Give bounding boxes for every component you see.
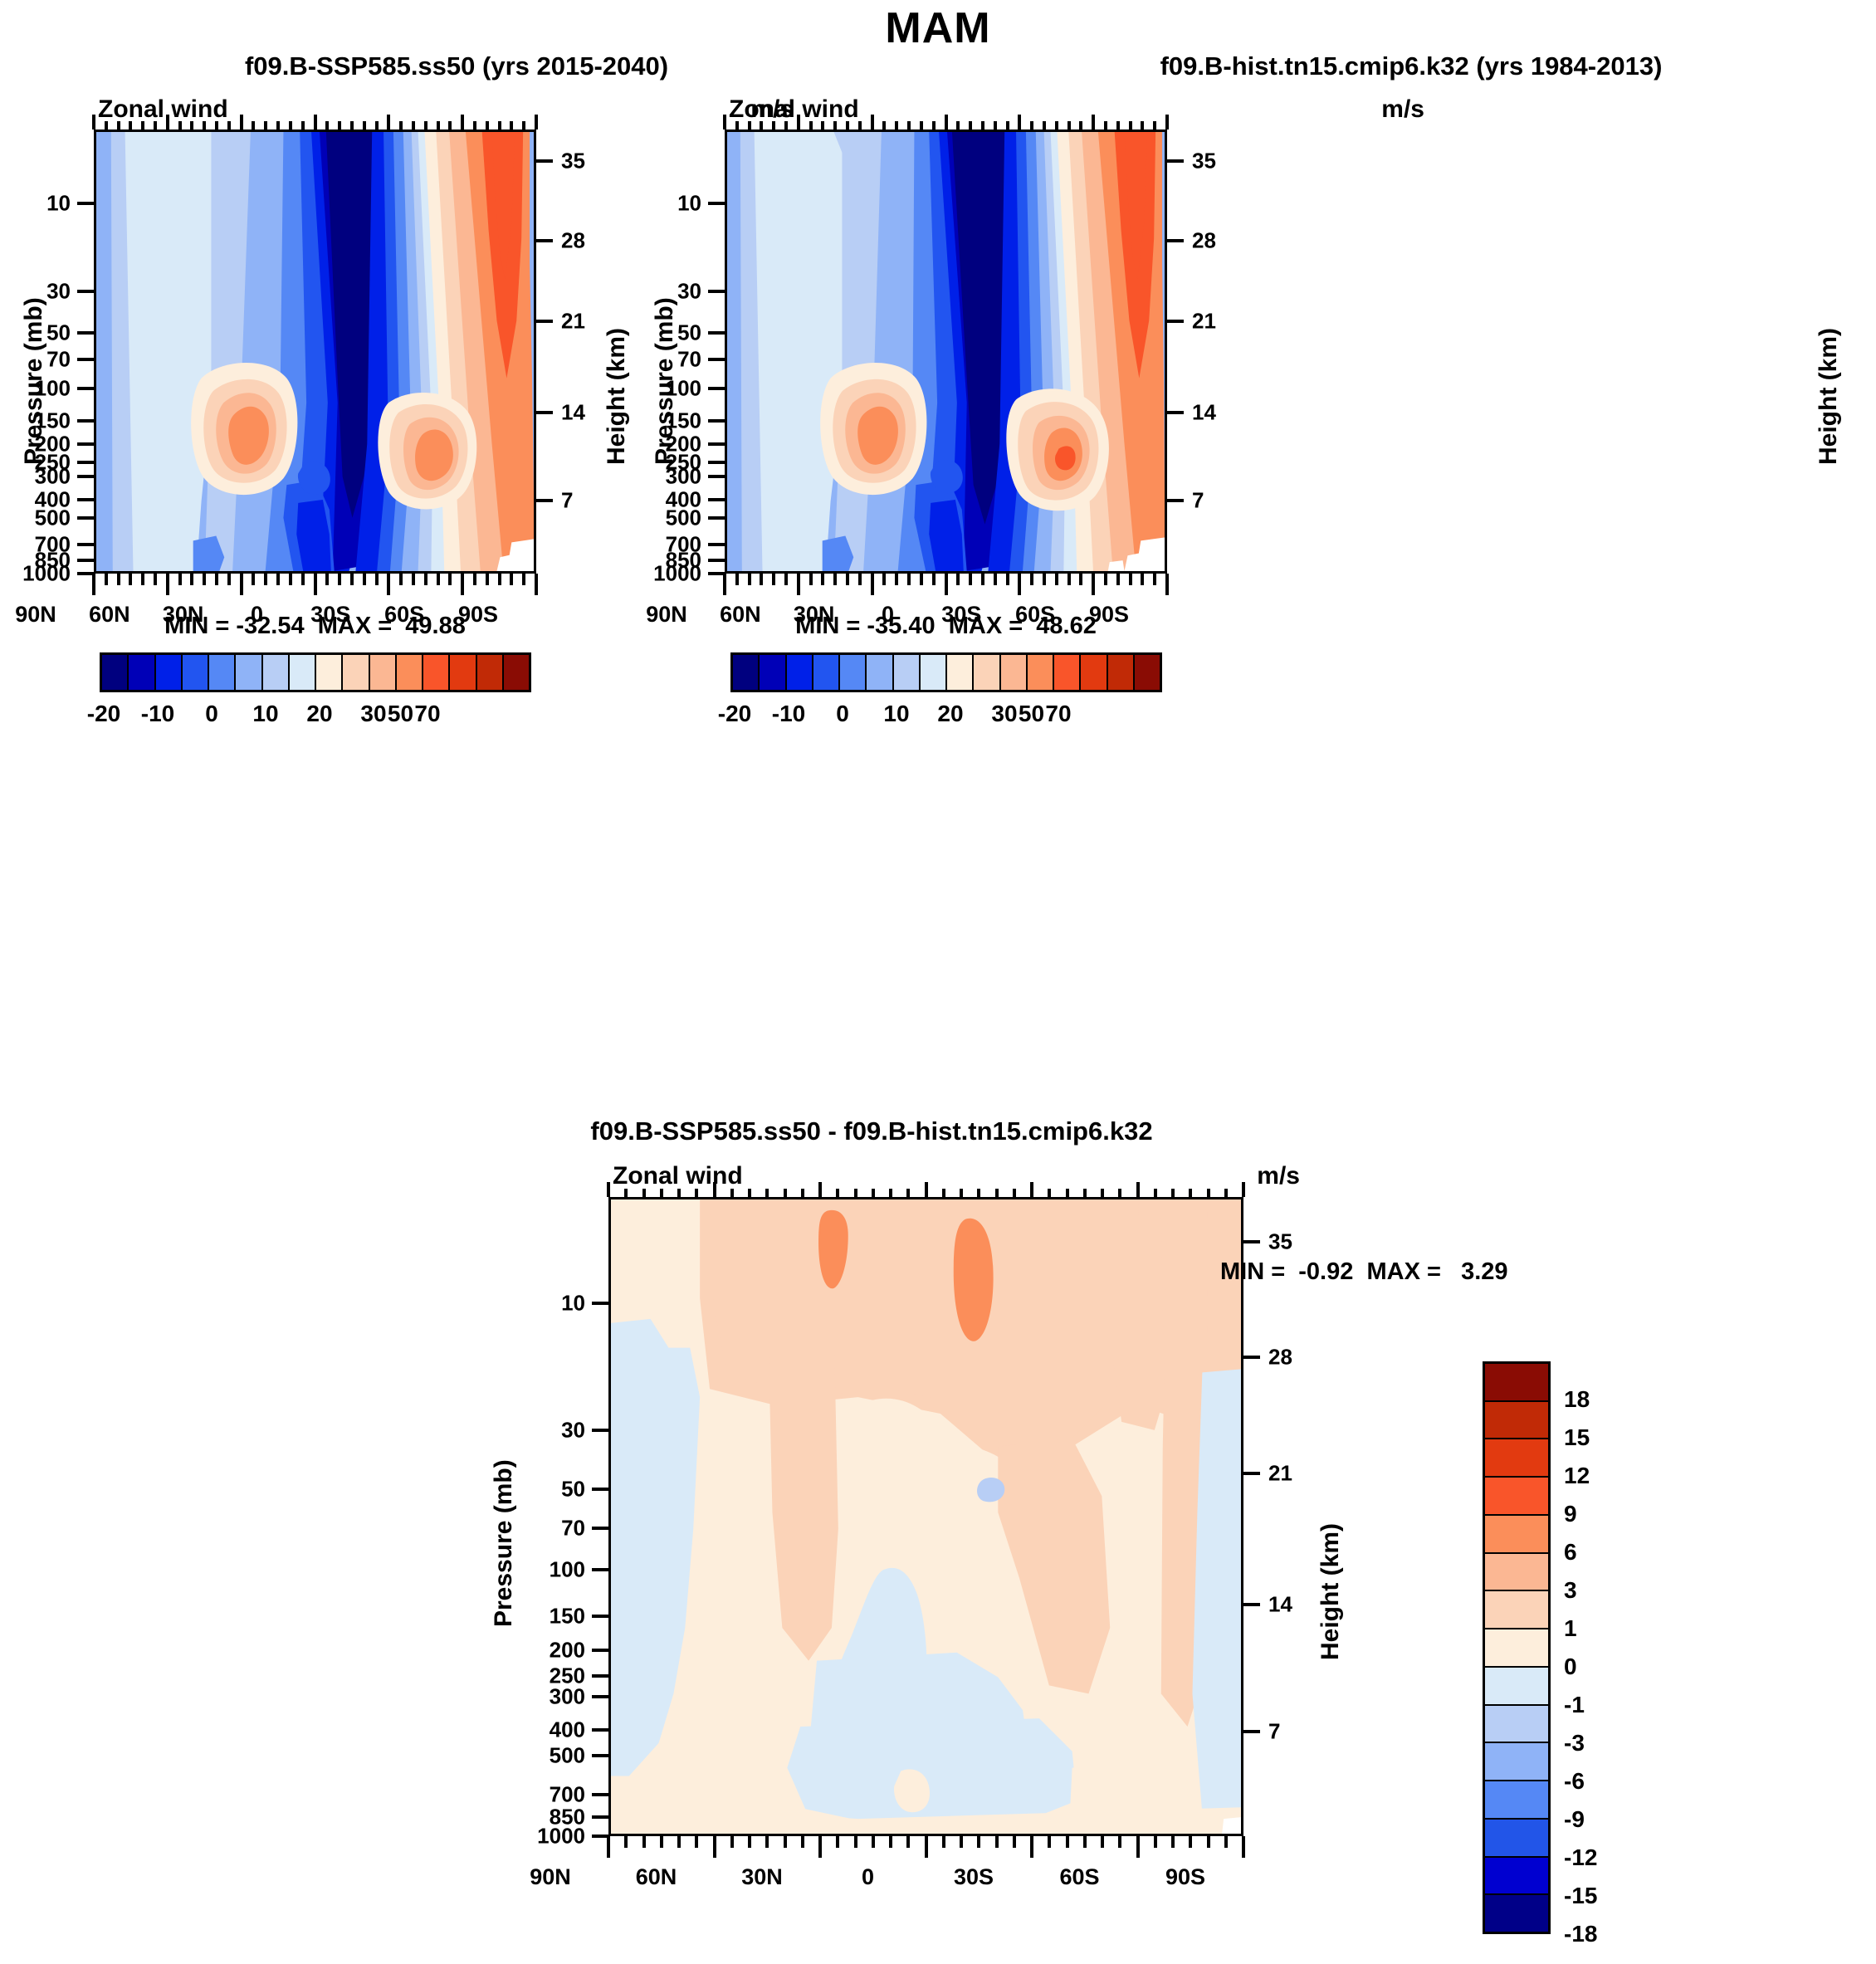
xtick-mark-bottom — [375, 574, 379, 585]
ytick-mark — [708, 543, 725, 546]
plot-diff[interactable] — [608, 1197, 1243, 1836]
colorbar-swatch[interactable] — [1485, 1402, 1548, 1440]
colorbar-swatch[interactable] — [504, 655, 529, 690]
xtick-mark-top — [1101, 1189, 1104, 1197]
xtick-mark-top — [387, 115, 390, 129]
xtick-mark-bottom — [1171, 1836, 1175, 1848]
colorbar-swatch[interactable] — [760, 655, 786, 690]
ytick-mark — [592, 1429, 608, 1432]
xtick-mark-bottom — [695, 1836, 698, 1848]
ytick-mark — [592, 1568, 608, 1571]
xtick-mark-bottom — [387, 574, 390, 595]
ytick-mark-height — [536, 411, 553, 414]
colorbar-swatch[interactable] — [787, 655, 813, 690]
colorbar-tick-label: -1 — [1564, 1692, 1585, 1718]
ytick-label-pressure: 300 — [0, 464, 71, 490]
ytick-mark — [77, 387, 94, 390]
xtick-mark-bottom — [889, 1836, 892, 1848]
xtick-mark-top — [240, 115, 243, 129]
xtick-mark-bottom — [836, 1836, 839, 1848]
xtick-mark-top — [801, 1189, 804, 1197]
ytick-label-height: 28 — [1192, 228, 1250, 254]
xtick-mark-top — [895, 121, 898, 129]
xtick-mark-bottom — [994, 574, 997, 585]
xtick-label-latitude: 60N — [598, 1864, 715, 1890]
xtick-mark-top — [784, 121, 788, 129]
xtick-mark-top — [1048, 1189, 1051, 1197]
plot-diff-contours — [611, 1199, 1241, 1834]
xtick-mark-bottom — [818, 1836, 822, 1858]
xtick-mark-bottom — [264, 574, 267, 585]
colorbar-tick-label: -18 — [1564, 1921, 1597, 1947]
xtick-mark-top — [695, 1189, 698, 1197]
xtick-mark-bottom — [166, 574, 169, 595]
colorbar-tick-label: 70 — [1009, 701, 1108, 727]
ytick-mark — [592, 1835, 608, 1838]
colorbar-swatch[interactable] — [370, 655, 397, 690]
xtick-mark-bottom — [907, 574, 911, 585]
xtick-mark-bottom — [314, 574, 317, 595]
xtick-mark-top — [642, 1189, 646, 1197]
xtick-mark-top — [92, 115, 95, 129]
xtick-mark-bottom — [437, 574, 440, 585]
xtick-mark-top — [1153, 121, 1156, 129]
xtick-mark-bottom — [92, 574, 95, 595]
xtick-mark-top — [809, 121, 813, 129]
ytick-mark — [708, 559, 725, 562]
ytick-label-height: 14 — [1192, 399, 1250, 425]
xtick-mark-bottom — [932, 574, 936, 585]
xtick-mark-top — [748, 1189, 751, 1197]
xtick-mark-bottom — [1154, 1836, 1157, 1848]
colorbar-swatch[interactable] — [1485, 1591, 1548, 1629]
xtick-mark-bottom — [772, 574, 775, 585]
xtick-mark-top — [190, 121, 193, 129]
colorbar-swatch[interactable] — [290, 655, 316, 690]
xtick-mark-bottom — [325, 574, 329, 585]
ytick-mark — [77, 516, 94, 520]
xtick-mark-top — [1013, 1189, 1016, 1197]
ytick-label-height: 28 — [1268, 1345, 1326, 1370]
colorbar-swatch[interactable] — [156, 655, 183, 690]
colorbar-swatch[interactable] — [974, 655, 1000, 690]
ytick-mark — [77, 442, 94, 446]
xtick-mark-bottom — [920, 574, 923, 585]
xtick-mark-bottom — [1116, 574, 1120, 585]
xtick-mark-top — [871, 115, 874, 129]
xtick-mark-top — [264, 121, 267, 129]
xtick-mark-bottom — [956, 574, 960, 585]
xtick-mark-bottom — [925, 1836, 928, 1858]
xtick-mark-top — [1030, 121, 1033, 129]
ytick-mark — [708, 358, 725, 361]
colorbar-swatch[interactable] — [343, 655, 369, 690]
xtick-label-latitude: 60S — [1022, 1864, 1138, 1890]
main-title: MAM — [0, 3, 1876, 53]
xtick-mark-bottom — [748, 574, 751, 585]
xtick-mark-bottom — [1006, 574, 1009, 585]
xtick-mark-bottom — [1189, 1836, 1192, 1848]
ytick-label-pressure: 500 — [501, 1743, 585, 1769]
colorbar-swatch[interactable] — [316, 655, 343, 690]
xtick-mark-bottom — [882, 574, 886, 585]
xtick-mark-bottom — [301, 574, 305, 585]
xtick-mark-top — [363, 121, 366, 129]
xtick-mark-bottom — [809, 574, 813, 585]
xtick-mark-bottom — [713, 1836, 716, 1858]
xtick-mark-bottom — [735, 574, 739, 585]
xtick-mark-bottom — [1055, 574, 1058, 585]
colorbar-swatch[interactable] — [921, 655, 947, 690]
colorbar-swatch[interactable] — [263, 655, 290, 690]
xtick-mark-bottom — [1101, 1836, 1104, 1848]
xtick-mark-bottom — [461, 574, 464, 595]
ytick-label-height: 35 — [1192, 148, 1250, 173]
xtick-mark-bottom — [660, 1836, 663, 1848]
colorbar-swatch[interactable] — [209, 655, 236, 690]
xtick-mark-top — [833, 121, 837, 129]
xtick-mark-top — [1189, 1189, 1192, 1197]
ytick-mark — [708, 475, 725, 478]
colorbar-swatch[interactable] — [947, 655, 974, 690]
ytick-label-pressure: 500 — [617, 505, 701, 530]
colorbar-swatch[interactable] — [1001, 655, 1028, 690]
ytick-label-pressure: 1000 — [0, 561, 71, 587]
xtick-mark-bottom — [215, 574, 218, 585]
colorbar-swatch[interactable] — [867, 655, 893, 690]
ytick-mark-height — [1243, 1472, 1260, 1475]
xtick-mark-top — [981, 121, 984, 129]
ytick-mark-height — [1167, 159, 1184, 163]
xtick-mark-bottom — [227, 574, 231, 585]
xtick-mark-bottom — [797, 574, 800, 595]
xtick-mark-top — [821, 121, 824, 129]
xtick-mark-top — [498, 121, 501, 129]
xtick-mark-top — [1154, 1189, 1157, 1197]
xtick-mark-top — [1055, 121, 1058, 129]
colorbar-swatch[interactable] — [1485, 1478, 1548, 1516]
xtick-mark-top — [854, 1189, 857, 1197]
xtick-label-latitude: 90N — [492, 1864, 608, 1890]
xtick-mark-top — [942, 1189, 945, 1197]
xtick-mark-bottom — [1242, 1836, 1245, 1858]
colorbar-ssp585[interactable] — [100, 652, 531, 692]
xtick-mark-top — [129, 121, 132, 129]
xtick-mark-top — [338, 121, 341, 129]
colorbar-swatch[interactable] — [183, 655, 209, 690]
ylabel-height-hist: Height (km) — [1815, 266, 1843, 465]
xtick-mark-top — [995, 1189, 999, 1197]
ytick-label-height: 7 — [1268, 1718, 1326, 1744]
xtick-mark-bottom — [821, 574, 824, 585]
xtick-mark-bottom — [765, 1836, 769, 1848]
ylabel-pressure-diff: Pressure (mb) — [490, 1411, 518, 1627]
xtick-mark-top — [772, 121, 775, 129]
xtick-mark-top — [925, 1182, 928, 1197]
xtick-mark-top — [1030, 1182, 1033, 1197]
ytick-mark-height — [1243, 1240, 1260, 1243]
ytick-mark-height — [1167, 239, 1184, 242]
xtick-mark-top — [906, 1189, 910, 1197]
colorbar-swatch[interactable] — [1485, 1858, 1548, 1896]
xtick-mark-top — [624, 1189, 628, 1197]
xtick-mark-top — [1018, 115, 1021, 129]
xtick-mark-bottom — [784, 1836, 787, 1848]
colorbar-swatch[interactable] — [1485, 1554, 1548, 1592]
xtick-mark-bottom — [289, 574, 292, 585]
xtick-label-latitude: 0 — [810, 1864, 926, 1890]
xtick-mark-bottom — [871, 574, 874, 595]
xtick-mark-top — [784, 1189, 787, 1197]
xtick-mark-bottom — [252, 574, 255, 585]
colorbar-tick-label: 70 — [378, 701, 477, 727]
colorbar-tick-label: 9 — [1564, 1501, 1577, 1527]
xtick-mark-bottom — [858, 574, 862, 585]
colorbar-swatch[interactable] — [1485, 1895, 1548, 1932]
xtick-mark-bottom — [1141, 574, 1144, 585]
colorbar-hist[interactable] — [730, 652, 1162, 692]
ytick-mark-height — [536, 159, 553, 163]
ytick-mark — [708, 498, 725, 501]
xtick-mark-bottom — [399, 574, 403, 585]
xtick-mark-top — [252, 121, 255, 129]
ytick-mark — [77, 498, 94, 501]
xtick-mark-top — [1066, 1189, 1069, 1197]
xtick-mark-bottom — [1043, 574, 1046, 585]
xtick-mark-top — [735, 121, 739, 129]
ytick-label-pressure: 300 — [617, 464, 701, 490]
colorbar-swatch[interactable] — [1485, 1439, 1548, 1478]
ytick-mark — [592, 1674, 608, 1678]
xtick-mark-bottom — [1066, 1836, 1069, 1848]
colorbar-swatch[interactable] — [1485, 1820, 1548, 1858]
xtick-mark-bottom — [1030, 574, 1033, 585]
colorbar-swatch[interactable] — [1081, 655, 1107, 690]
xtick-mark-bottom — [350, 574, 354, 585]
ytick-label-height: 21 — [1192, 309, 1250, 335]
xtick-mark-top — [510, 121, 513, 129]
xtick-mark-top — [660, 1189, 663, 1197]
xtick-mark-bottom — [723, 574, 726, 595]
xtick-mark-top — [945, 115, 948, 129]
ytick-mark — [592, 1615, 608, 1618]
ytick-mark — [592, 1815, 608, 1819]
min-diff: MIN = -0.92 — [1220, 1258, 1353, 1285]
colorbar-swatch[interactable] — [1108, 655, 1135, 690]
xtick-mark-bottom — [1083, 1836, 1087, 1848]
xtick-mark-bottom — [995, 1836, 999, 1848]
xtick-mark-bottom — [1129, 574, 1132, 585]
colorbar-swatch[interactable] — [1054, 655, 1081, 690]
ytick-label-height: 28 — [561, 228, 619, 254]
ytick-mark-height — [1243, 1730, 1260, 1733]
xtick-mark-bottom — [363, 574, 366, 585]
xtick-mark-bottom — [1224, 1836, 1228, 1848]
max-hist: MAX = 48.62 — [949, 613, 1097, 639]
panel-title-hist: f09.B-hist.tn15.cmip6.k32 (yrs 1984-2013… — [980, 51, 1843, 81]
xtick-mark-top — [289, 121, 292, 129]
xtick-mark-bottom — [190, 574, 193, 585]
xtick-mark-bottom — [1079, 574, 1082, 585]
xtick-mark-top — [424, 121, 427, 129]
colorbar-swatch[interactable] — [813, 655, 840, 690]
xtick-mark-top — [522, 121, 525, 129]
ylabel-pressure-hist: Pressure (mb) — [651, 249, 679, 465]
ytick-label-height: 35 — [1268, 1229, 1326, 1255]
xtick-mark-top — [818, 1182, 822, 1197]
xtick-mark-bottom — [473, 574, 476, 585]
ytick-label-pressure: 200 — [501, 1637, 585, 1663]
ytick-mark — [77, 290, 94, 293]
colorbar-swatch[interactable] — [733, 655, 760, 690]
xtick-mark-top — [375, 121, 379, 129]
panel-varname-ssp585: Zonal wind — [98, 95, 228, 124]
xtick-mark-top — [920, 121, 923, 129]
min-hist: MIN = -35.40 — [795, 613, 935, 639]
xtick-mark-top — [1092, 115, 1095, 129]
xtick-mark-bottom — [105, 574, 108, 585]
xtick-mark-top — [350, 121, 354, 129]
colorbar-swatch[interactable] — [397, 655, 423, 690]
xtick-mark-top — [1067, 121, 1071, 129]
ytick-mark — [77, 331, 94, 335]
plot-hist[interactable] — [725, 129, 1167, 574]
colorbar-swatch[interactable] — [1485, 1781, 1548, 1820]
ytick-label-pressure: 500 — [0, 505, 71, 530]
xtick-mark-top — [723, 115, 726, 129]
xtick-mark-top — [1129, 121, 1132, 129]
xtick-mark-top — [325, 121, 329, 129]
colorbar-swatch[interactable] — [840, 655, 867, 690]
xtick-mark-top — [1079, 121, 1082, 129]
xtick-mark-bottom — [424, 574, 427, 585]
colorbar-tick-label: 3 — [1564, 1577, 1577, 1604]
ytick-mark — [77, 419, 94, 423]
xtick-mark-top — [448, 121, 452, 129]
ytick-mark-height — [536, 320, 553, 323]
ytick-mark — [77, 461, 94, 464]
xtick-mark-bottom — [338, 574, 341, 585]
xtick-mark-bottom — [203, 574, 206, 585]
colorbar-swatch[interactable] — [1028, 655, 1054, 690]
panel-title-ssp585: f09.B-SSP585.ss50 (yrs 2015-2040) — [33, 51, 880, 81]
xtick-label-latitude: 30S — [916, 1864, 1032, 1890]
xtick-mark-bottom — [969, 574, 972, 585]
colorbar-swatch[interactable] — [236, 655, 262, 690]
colorbar-swatch[interactable] — [423, 655, 450, 690]
xtick-mark-bottom — [784, 574, 788, 585]
colorbar-swatch[interactable] — [1135, 655, 1160, 690]
xtick-mark-bottom — [1207, 1836, 1210, 1848]
xtick-mark-bottom — [945, 574, 948, 595]
panel-title-diff: f09.B-SSP585.ss50 - f09.B-hist.tn15.cmip… — [357, 1116, 1386, 1146]
panel-units-hist: m/s — [1129, 95, 1424, 124]
xtick-mark-top — [1043, 121, 1046, 129]
colorbar-tick-label: -9 — [1564, 1806, 1585, 1833]
ytick-mark — [592, 1302, 608, 1305]
xtick-mark-top — [437, 121, 440, 129]
ytick-label-pressure: 10 — [501, 1290, 585, 1316]
colorbar-swatch[interactable] — [450, 655, 476, 690]
xtick-mark-bottom — [448, 574, 452, 585]
xtick-mark-bottom — [141, 574, 144, 585]
ytick-mark-height — [1167, 411, 1184, 414]
colorbar-swatch[interactable] — [477, 655, 504, 690]
colorbar-tick-label: 0 — [1564, 1654, 1577, 1680]
ylabel-height-diff: Height (km) — [1317, 1461, 1345, 1660]
ytick-label-height: 7 — [561, 488, 619, 514]
colorbar-diff[interactable] — [1483, 1361, 1551, 1934]
xtick-mark-top — [969, 121, 972, 129]
colorbar-tick-label: -12 — [1564, 1844, 1597, 1871]
xtick-mark-top — [1136, 1182, 1140, 1197]
xtick-mark-bottom — [760, 574, 763, 585]
colorbar-swatch[interactable] — [1485, 1743, 1548, 1781]
minmax-ssp585: MIN = -32.54 MAX = 49.88 — [94, 613, 536, 640]
colorbar-tick-label: 6 — [1564, 1539, 1577, 1566]
xtick-mark-top — [314, 115, 317, 129]
ytick-mark — [708, 290, 725, 293]
colorbar-swatch[interactable] — [894, 655, 921, 690]
xtick-mark-bottom — [642, 1836, 646, 1848]
xtick-mark-bottom — [677, 1836, 681, 1848]
xtick-mark-bottom — [117, 574, 120, 585]
minmax-diff: MIN = -0.92 MAX = 3.29 — [1220, 1258, 1508, 1286]
xtick-mark-top — [1141, 121, 1144, 129]
xtick-mark-bottom — [486, 574, 489, 585]
colorbar-swatch[interactable] — [129, 655, 155, 690]
plot-ssp585[interactable] — [94, 129, 536, 574]
xtick-mark-bottom — [1153, 574, 1156, 585]
ytick-mark-height — [1167, 499, 1184, 502]
colorbar-tick-label: -6 — [1564, 1768, 1585, 1795]
xtick-mark-top — [713, 1182, 716, 1197]
colorbar-swatch[interactable] — [1485, 1364, 1548, 1402]
xtick-mark-bottom — [1092, 574, 1095, 595]
ytick-mark — [708, 572, 725, 575]
xtick-mark-top — [399, 121, 403, 129]
xtick-mark-top — [1207, 1189, 1210, 1197]
xtick-mark-top — [141, 121, 144, 129]
xtick-mark-top — [765, 1189, 769, 1197]
xtick-mark-bottom — [801, 1836, 804, 1848]
min-ssp585: MIN = -32.54 — [164, 613, 304, 639]
xtick-mark-bottom — [906, 1836, 910, 1848]
xtick-mark-top — [882, 121, 886, 129]
panel-units-diff: m/s — [1004, 1162, 1300, 1190]
xtick-mark-top — [154, 121, 157, 129]
ytick-mark — [592, 1695, 608, 1698]
xtick-mark-top — [1224, 1189, 1228, 1197]
xtick-mark-bottom — [872, 1836, 875, 1848]
colorbar-tick-label: -15 — [1564, 1883, 1597, 1909]
ytick-label-pressure: 300 — [501, 1684, 585, 1710]
ytick-label-pressure: 400 — [501, 1717, 585, 1743]
colorbar-swatch[interactable] — [1485, 1629, 1548, 1668]
colorbar-tick-label: 1 — [1564, 1615, 1577, 1642]
colorbar-swatch[interactable] — [102, 655, 129, 690]
xtick-mark-top — [748, 121, 751, 129]
ytick-mark — [77, 202, 94, 205]
colorbar-swatch[interactable] — [1485, 1706, 1548, 1744]
xtick-label-latitude: 90S — [1127, 1864, 1243, 1890]
colorbar-swatch[interactable] — [1485, 1668, 1548, 1706]
xtick-mark-bottom — [510, 574, 513, 585]
colorbar-swatch[interactable] — [1485, 1516, 1548, 1554]
colorbar-tick-label: 15 — [1564, 1424, 1590, 1451]
xtick-mark-bottom — [730, 1836, 734, 1848]
xtick-mark-bottom — [1018, 574, 1021, 595]
